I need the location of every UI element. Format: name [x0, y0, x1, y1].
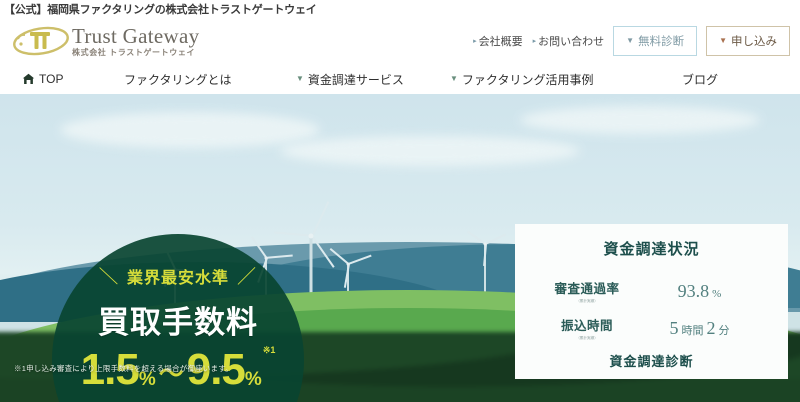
badge-title: 買取手数料 [98, 297, 258, 342]
main-navigation: TOP ファクタリングとは ▼ 資金調達サービス ▼ ファクタリング活用事例 ブ… [0, 64, 800, 94]
funding-status-card: 資金調達状況 審査通過率 （累計実績） 93.8 % 振込時間 （累計実績） [515, 224, 788, 379]
header-link-company-overview-label: 会社概要 [479, 33, 523, 49]
transfer-time-minutes-unit: 分 [718, 322, 729, 338]
footnote-marker: ※1 [263, 346, 276, 355]
nav-item-top-label: TOP [39, 72, 63, 86]
header-link-contact[interactable]: ▸ お問い合わせ [533, 33, 605, 49]
transfer-time-value: 5 時間 2 分 [635, 318, 764, 339]
slash-left-icon: ＼ [99, 262, 120, 290]
nav-item-funding-services-label: 資金調達サービス [308, 71, 404, 88]
nav-item-what-is-factoring-label: ファクタリングとは [124, 71, 232, 88]
card-row-transfer-time: 振込時間 （累計実績） 5 時間 2 分 [533, 315, 770, 341]
badge-kicker: ＼ 業界最安水準 ／ [99, 262, 257, 289]
header-link-contact-label: お問い合わせ [538, 33, 604, 49]
approval-rate-note: （累計実績） [576, 298, 598, 303]
transfer-time-minutes: 2 [706, 318, 715, 339]
site-title-bar: 【公式】福岡県ファクタリングの株式会社トラストゲートウェイ [0, 0, 800, 18]
header-link-company-overview[interactable]: ▸ 会社概要 [473, 33, 523, 49]
approval-rate-label-group: 審査通過率 （累計実績） [539, 278, 635, 304]
page-root: 【公式】福岡県ファクタリングの株式会社トラストゲートウェイ Tru [0, 0, 800, 402]
header-text-links: ▸ 会社概要 ▸ お問い合わせ [473, 33, 604, 49]
slash-right-icon: ／ [237, 262, 257, 289]
free-diagnosis-button[interactable]: ▼ 無料診断 [613, 26, 697, 56]
triangle-right-icon: ▸ [473, 38, 477, 45]
hero-disclaimer: ※1申し込み審査により上限手数料を超える場合が御座います。 [14, 363, 233, 374]
chevron-down-icon: ▼ [626, 37, 634, 45]
badge-kicker-label: 業界最安水準 [127, 264, 229, 288]
card-title: 資金調達状況 [603, 238, 699, 259]
site-title-text: 【公式】福岡県ファクタリングの株式会社トラストゲートウェイ [4, 1, 317, 17]
logo-wordmark: Trust Gateway 株式会社 トラストゲートウェイ [72, 26, 199, 57]
free-diagnosis-button-label: 無料診断 [638, 33, 684, 49]
tt-monogram-ellipse-logo-icon [12, 24, 70, 58]
approval-rate-unit: % [712, 288, 721, 300]
header-actions: ▸ 会社概要 ▸ お問い合わせ ▼ 無料診断 ▼ 申し込み [473, 26, 790, 56]
card-row-approval-rate: 審査通過率 （累計実績） 93.8 % [533, 278, 770, 304]
approval-rate-label: 審査通過率 [554, 278, 619, 297]
site-logo[interactable]: Trust Gateway 株式会社 トラストゲートウェイ [12, 24, 199, 58]
hero-banner: ＼ 業界最安水準 ／ 買取手数料 1.5 % 〜 9.5 % ※1 最短即日振込… [0, 94, 800, 402]
chevron-down-icon: ▼ [719, 37, 727, 45]
transfer-time-label-group: 振込時間 （累計実績） [539, 315, 635, 341]
nav-item-case-studies-label: ファクタリング活用事例 [462, 71, 594, 88]
transfer-time-label: 振込時間 [561, 315, 613, 334]
cloud-shape [60, 112, 320, 148]
apply-button-label: 申し込み [731, 33, 777, 49]
rate-max-percent: % [245, 370, 262, 392]
cloud-shape [520, 106, 760, 134]
funding-diagnosis-link[interactable]: 資金調達診断 [609, 351, 693, 370]
triangle-right-icon: ▸ [533, 38, 537, 45]
cloud-shape [280, 136, 580, 166]
chevron-down-icon: ▼ [450, 75, 458, 83]
approval-rate-value: 93.8 % [635, 281, 764, 302]
transfer-time-note: （累計実績） [576, 335, 598, 340]
logo-subtitle: 株式会社 トラストゲートウェイ [72, 49, 199, 57]
transfer-time-hours-unit: 時間 [681, 322, 703, 338]
nav-item-top[interactable]: TOP [22, 72, 63, 86]
approval-rate-number: 93.8 [678, 281, 710, 302]
logo-name: Trust Gateway [72, 26, 199, 47]
nav-item-funding-services[interactable]: ▼ 資金調達サービス [296, 71, 404, 88]
nav-item-blog[interactable]: ブログ [682, 71, 718, 88]
chevron-down-icon: ▼ [296, 75, 304, 83]
transfer-time-hours: 5 [669, 318, 678, 339]
home-icon [22, 73, 35, 85]
nav-item-case-studies[interactable]: ▼ ファクタリング活用事例 [450, 71, 593, 88]
nav-item-what-is-factoring[interactable]: ファクタリングとは [124, 71, 232, 88]
nav-item-blog-label: ブログ [682, 71, 718, 88]
apply-button[interactable]: ▼ 申し込み [706, 26, 790, 56]
site-header: Trust Gateway 株式会社 トラストゲートウェイ ▸ 会社概要 ▸ お… [0, 18, 800, 64]
